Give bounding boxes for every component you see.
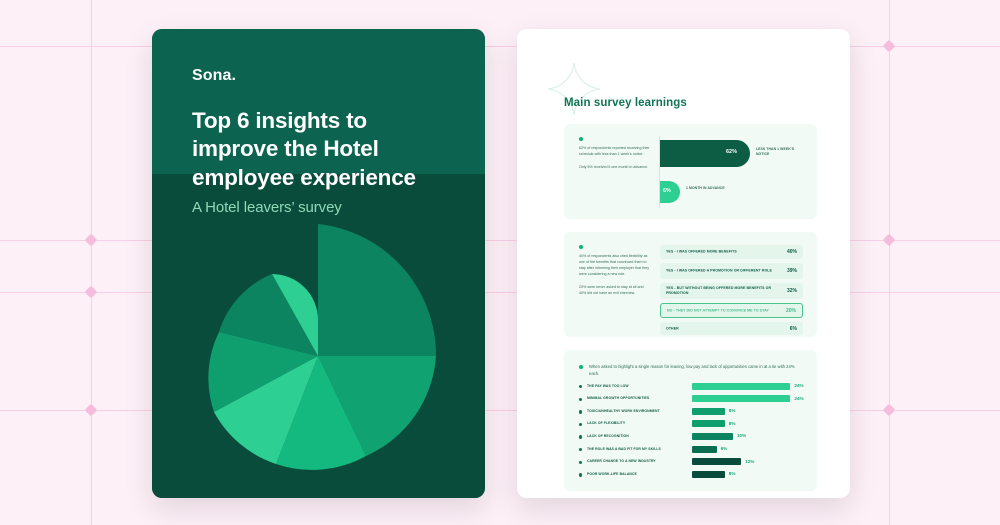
response-row[interactable]: YES - I WAS OFFERED A PROMOTION OR DIFFE… [660,263,803,279]
grid-node [85,234,98,247]
grid-node [883,404,896,417]
response-label: OTHER [666,326,774,331]
bar-value-1: 62% [726,149,737,155]
response-value: 39% [787,268,797,274]
reason-bar [692,395,790,402]
response-value: 6% [790,326,797,332]
page-title: Main survey learnings [564,97,687,109]
sona-logo: Sona. [192,67,451,85]
card-schedule-notice[interactable]: 62% of respondents reported receiving th… [564,124,817,219]
reason-value: 8% [729,421,736,426]
grid-line-horizontal [0,410,1000,411]
reason-label: LACK OF RECOGNITION [587,434,629,438]
grid-node [883,40,896,53]
bullet-dot-icon [579,423,582,426]
response-row[interactable]: YES - BUT WITHOUT BEING OFFERED MORE BEN… [660,283,803,299]
grid-node [883,234,896,247]
reason-bar [692,471,725,478]
bullet-dot-icon [579,137,583,141]
reason-value: 12% [745,459,754,464]
reason-bar [692,383,790,390]
response-label: YES - I WAS OFFERED MORE BENEFITS [666,249,774,254]
reason-label: THE PAY WAS TOO LOW [587,384,629,388]
radial-pie-chart [206,216,436,496]
response-label: NO - THEY DID NOT ATTEMPT TO CONVINCE ME… [667,308,775,313]
response-label: YES - I WAS OFFERED A PROMOTION OR DIFFE… [666,268,774,273]
grid-node [85,286,98,299]
bullet-dot-icon [579,385,582,388]
bullet-dot-icon [579,410,582,413]
card2-text-1: 40% of respondents also cited flexibilit… [579,254,651,278]
reason-value: 24% [794,383,803,388]
reason-label: TOXIC/UNHEALTHY WORK ENVIRONMENT [587,409,660,413]
bullet-dot-icon [579,473,582,476]
bullet-dot-icon [579,398,582,401]
card2-description: 40% of respondents also cited flexibilit… [579,254,651,297]
response-value: 40% [787,249,797,255]
card1-text-2: Only 6% received it one month in advance… [579,165,651,171]
reason-label: THE ROLE WAS A BAD FIT FOR MY SKILLS [587,447,661,451]
reason-bar [692,446,717,453]
grid-line-vertical [889,0,890,525]
response-row-highlighted[interactable]: NO - THEY DID NOT ATTEMPT TO CONVINCE ME… [660,303,803,318]
reason-label: POOR WORK-LIFE BALANCE [587,472,637,476]
grid-line-horizontal [0,240,1000,241]
reason-bar [692,458,741,465]
reason-value: 10% [737,433,746,438]
background-grid [0,0,1000,525]
reason-value: 24% [794,396,803,401]
grid-line-vertical [91,0,92,525]
response-label: YES - BUT WITHOUT BEING OFFERED MORE BEN… [666,286,774,296]
reason-label: CAREER CHANGE TO A NEW INDUSTRY [587,459,656,463]
bullet-dot-icon [579,461,582,464]
bullet-dot-icon [579,245,583,249]
bar-caption-1: LESS THAN 1 WEEK’S NOTICE [756,147,802,157]
response-row[interactable]: YES - I WAS OFFERED MORE BENEFITS 40% [660,245,803,259]
response-value: 20% [786,308,796,314]
reason-bar [692,420,725,427]
reason-bar [692,408,725,415]
response-row[interactable]: OTHER 6% [660,322,803,335]
response-value: 32% [787,288,797,294]
reason-bar [692,433,733,440]
grid-line-horizontal [0,46,1000,47]
grid-line-horizontal [0,292,1000,293]
card-asked-to-stay[interactable]: 40% of respondents also cited flexibilit… [564,232,817,337]
cover-chart-area [152,174,485,498]
cover-page[interactable]: Sona. Top 6 insights to improve the Hote… [152,29,485,498]
card2-text-2: 20% were never asked to stay at all and … [579,285,651,297]
reason-value: 8% [729,408,736,413]
card1-text-1: 62% of respondents reported receiving th… [579,146,651,158]
bullet-dot-icon [579,448,582,451]
grid-node [85,404,98,417]
card-reasons-for-leaving[interactable]: When asked to highlight a single reason … [564,350,817,491]
reason-value: 6% [721,446,728,451]
bullet-dot-icon [579,435,582,438]
bar-value-2: 6% [663,188,671,194]
report-page[interactable]: Main survey learnings 62% of respondents… [517,29,850,498]
reason-value: 8% [729,471,736,476]
reason-label: LACK OF FLEXIBILITY [587,421,625,425]
card1-description: 62% of respondents reported receiving th… [579,146,651,171]
bar-caption-2: 1 MONTH IN ADVANCE [686,186,730,191]
card3-intro: When asked to highlight a single reason … [589,364,799,377]
reason-label: MINIMAL GROWTH OPPORTUNITIES [587,396,649,400]
bullet-dot-icon [579,365,583,369]
